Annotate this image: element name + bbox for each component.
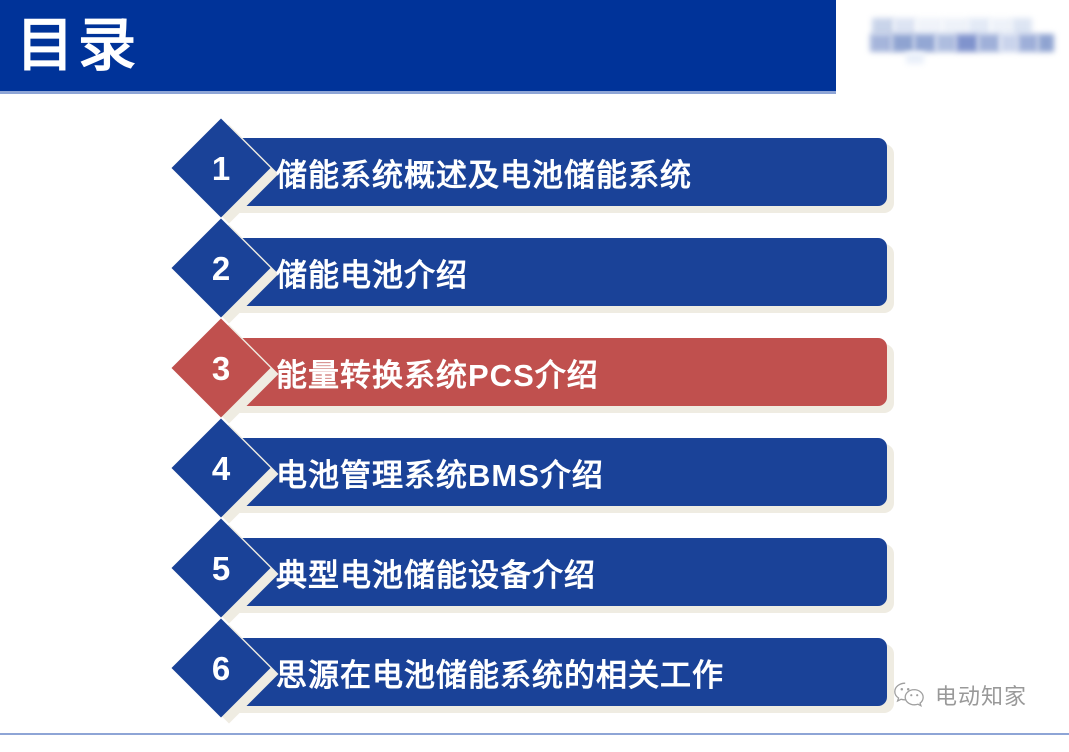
toc-number: 2 xyxy=(186,233,256,303)
page-title: 目录 xyxy=(16,8,140,84)
toc-item-4[interactable]: 4 电池管理系统BMS介绍 xyxy=(0,425,1069,525)
toc-label: 能量转换系统PCS介绍 xyxy=(276,338,599,406)
toc-number: 3 xyxy=(186,333,256,403)
toc-label: 典型电池储能设备介绍 xyxy=(276,538,596,606)
toc-item-3[interactable]: 3 能量转换系统PCS介绍 xyxy=(0,325,1069,425)
toc-label: 储能系统概述及电池储能系统 xyxy=(276,138,692,206)
toc-number: 6 xyxy=(186,633,256,703)
company-logo-redacted-icon xyxy=(858,16,1054,64)
toc-item-2[interactable]: 2 储能电池介绍 xyxy=(0,225,1069,325)
toc-label: 储能电池介绍 xyxy=(276,238,468,306)
toc-label: 思源在电池储能系统的相关工作 xyxy=(276,638,724,706)
toc-number: 4 xyxy=(186,433,256,503)
toc-item-5[interactable]: 5 典型电池储能设备介绍 xyxy=(0,525,1069,625)
toc-label: 电池管理系统BMS介绍 xyxy=(276,438,604,506)
slide-root: 目录 1 xyxy=(0,0,1069,752)
wechat-icon xyxy=(893,681,927,709)
watermark-text: 电动知家 xyxy=(935,679,1027,711)
watermark: 电动知家 xyxy=(893,679,1027,711)
footer-rule xyxy=(0,733,1069,735)
toc-number: 5 xyxy=(186,533,256,603)
header-logo-area xyxy=(836,0,1069,93)
toc-item-1[interactable]: 1 储能系统概述及电池储能系统 xyxy=(0,125,1069,225)
toc-number: 1 xyxy=(186,133,256,203)
toc-list: 1 储能系统概述及电池储能系统 2 储能电池介绍 3 能量转换系统PCS介绍 xyxy=(0,93,1069,752)
